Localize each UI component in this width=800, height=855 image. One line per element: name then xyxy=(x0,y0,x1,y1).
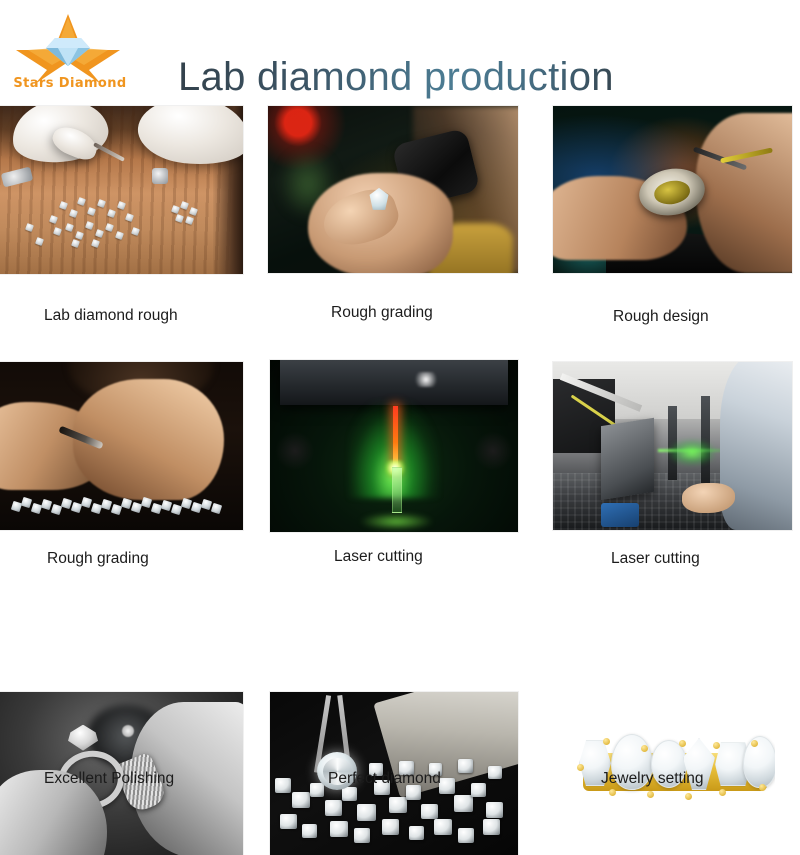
logo-wordmark: Stars Diamond xyxy=(12,76,128,91)
caption-excellent-polishing: Excellent Polishing xyxy=(44,770,174,788)
page-header: Stars Diamond Lab diamond production xyxy=(0,0,800,102)
caption-perfect-diamond: Perfect diamond xyxy=(328,770,441,788)
stars-diamond-logo[interactable]: Stars Diamond xyxy=(8,10,128,102)
photo-laser-cutting-bench[interactable] xyxy=(553,362,792,530)
caption-rough-grading-loupe: Rough grading xyxy=(331,304,433,322)
caption-rough-design: Rough design xyxy=(613,308,709,326)
caption-laser-cutting-beam: Laser cutting xyxy=(334,548,423,566)
caption-laser-cutting-bench: Laser cutting xyxy=(611,550,700,568)
photo-rough-grading-loupe[interactable] xyxy=(268,106,518,273)
page-title: Lab diamond production xyxy=(178,55,614,100)
rough-diamond-pile xyxy=(48,194,140,244)
photo-rough-design[interactable] xyxy=(553,106,792,273)
photo-lab-diamond-rough[interactable] xyxy=(0,106,243,274)
photo-laser-cutting-beam[interactable] xyxy=(270,360,518,532)
photo-rough-grading-tweezers[interactable] xyxy=(0,362,243,530)
single-diamond-cluster xyxy=(172,202,202,228)
rough-diamond-heap xyxy=(270,734,518,855)
diamond-row xyxy=(12,498,226,515)
caption-rough-grading-tweezers: Rough grading xyxy=(47,550,149,568)
caption-lab-diamond-rough: Lab diamond rough xyxy=(44,307,178,325)
caption-jewelry-setting: Jewelry setting xyxy=(601,770,704,788)
production-gallery: Lab diamond rough Rough grading xyxy=(0,102,800,800)
